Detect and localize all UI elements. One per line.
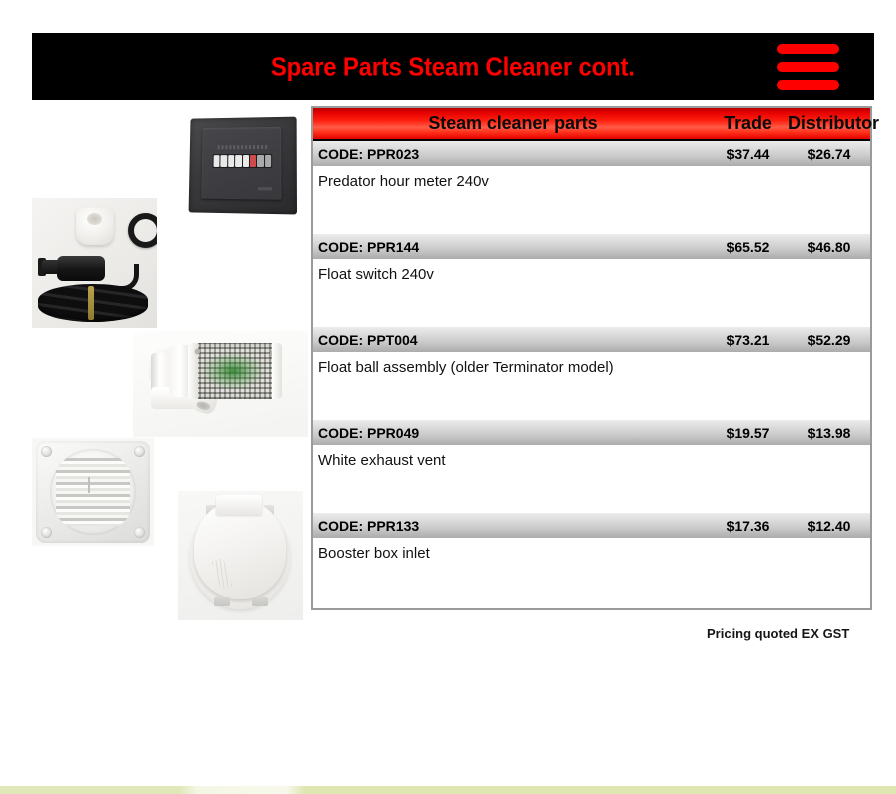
- table-row: CODE: PPR023 $37.44 $26.74: [313, 141, 870, 166]
- o-ring-part: [128, 213, 157, 248]
- column-header-distributor: Distributor: [788, 113, 879, 134]
- page-title: Spare Parts Steam Cleaner cont.: [32, 51, 874, 82]
- distributor-price: $26.74: [788, 146, 870, 162]
- exhaust-vent-photo: [32, 438, 154, 546]
- column-header-trade: Trade: [708, 113, 788, 134]
- hour-meter-sub-label: [258, 187, 272, 190]
- part-description: Predator hour meter 240v: [313, 166, 708, 190]
- counter-digit: [214, 155, 220, 167]
- vent-louvers: [56, 458, 130, 526]
- trade-price: $73.21: [708, 332, 788, 348]
- table-row: CODE: PPR144 $65.52 $46.80: [313, 234, 870, 259]
- page-header: Spare Parts Steam Cleaner cont.: [32, 33, 874, 100]
- vent-center-rib: [88, 477, 90, 493]
- spacer-cell: [708, 352, 788, 359]
- counter-digit: [235, 155, 241, 167]
- trade-price: $37.44: [708, 146, 788, 162]
- table-row: Float switch 240v: [313, 259, 870, 327]
- table-header-row: Steam cleaner parts Trade Distributor: [313, 108, 870, 141]
- distributor-price: $13.98: [788, 425, 870, 441]
- strainer-screw: [195, 349, 200, 354]
- table-row: CODE: PPT004 $73.21 $52.29: [313, 327, 870, 352]
- vent-screw: [41, 527, 52, 538]
- spacer-cell: [788, 259, 870, 266]
- counter-digit: [242, 155, 248, 167]
- page-title-text: Spare Parts Steam Cleaner cont.: [271, 51, 635, 82]
- inlet-notch-left: [214, 597, 230, 606]
- table-row: Float ball assembly (older Terminator mo…: [313, 352, 870, 420]
- distributor-price: $46.80: [788, 239, 870, 255]
- float-switch-photo: [32, 198, 157, 328]
- cable-tie: [88, 286, 94, 320]
- hour-meter-body: [189, 117, 297, 215]
- counter-digit: [250, 155, 256, 167]
- spacer-cell: [708, 445, 788, 452]
- part-description: Float switch 240v: [313, 259, 708, 283]
- trade-price: $65.52: [708, 239, 788, 255]
- counter-digit: [221, 155, 227, 167]
- bottom-accent-strip: [0, 786, 896, 794]
- strainer-screw: [270, 351, 275, 356]
- spacer-cell: [708, 166, 788, 173]
- hour-meter-label-text: [218, 145, 267, 149]
- inlet-notch-right: [252, 597, 268, 606]
- spacer-cell: [708, 538, 788, 545]
- table-row: White exhaust vent: [313, 445, 870, 513]
- inlet-embossed-text: [212, 558, 233, 590]
- table-row: CODE: PPR049 $19.57 $13.98: [313, 420, 870, 445]
- hamburger-bar-3: [777, 80, 839, 90]
- table-row: Booster box inlet: [313, 538, 870, 608]
- hamburger-menu-icon[interactable]: [777, 42, 839, 92]
- hour-meter-face: [201, 127, 281, 200]
- hamburger-bar-2: [777, 62, 839, 72]
- column-header-parts: Steam cleaner parts: [313, 113, 708, 134]
- vent-face-plate: [36, 441, 150, 543]
- hour-meter-photo: [182, 113, 302, 218]
- inlet-cover-lid: [194, 501, 286, 599]
- vent-screw: [41, 446, 52, 457]
- part-code: CODE: PPR023: [313, 146, 708, 162]
- float-ball-photo: [133, 331, 308, 437]
- pricing-note: Pricing quoted EX GST: [707, 626, 849, 641]
- booster-box-inlet-photo: [178, 491, 303, 620]
- parts-price-table: Steam cleaner parts Trade Distributor CO…: [311, 106, 872, 610]
- part-description: Booster box inlet: [313, 538, 708, 562]
- spacer-cell: [788, 445, 870, 452]
- part-code: CODE: PPR144: [313, 239, 708, 255]
- distributor-price: $12.40: [788, 518, 870, 534]
- hamburger-bar-1: [777, 44, 839, 54]
- part-description: Float ball assembly (older Terminator mo…: [313, 352, 708, 376]
- hour-meter-counter-display: [213, 154, 273, 168]
- table-row: Predator hour meter 240v: [313, 166, 870, 234]
- spacer-cell: [788, 538, 870, 545]
- part-code: CODE: PPT004: [313, 332, 708, 348]
- vent-screw: [134, 446, 145, 457]
- white-fitting-part: [76, 208, 114, 245]
- part-code: CODE: PPR133: [313, 518, 708, 534]
- inlet-hinge-tab: [216, 495, 262, 515]
- trade-price: $19.57: [708, 425, 788, 441]
- counter-digit: [228, 155, 234, 167]
- counter-digit: [257, 155, 263, 167]
- perforated-strainer: [189, 343, 281, 399]
- part-code: CODE: PPR049: [313, 425, 708, 441]
- distributor-price: $52.29: [788, 332, 870, 348]
- spacer-cell: [788, 352, 870, 359]
- part-description: White exhaust vent: [313, 445, 708, 469]
- vent-circular-recess: [50, 449, 136, 535]
- float-switch-body: [57, 256, 105, 281]
- spacer-cell: [788, 166, 870, 173]
- counter-digit: [265, 155, 271, 167]
- table-row: CODE: PPR133 $17.36 $12.40: [313, 513, 870, 538]
- vent-screw: [134, 527, 145, 538]
- trade-price: $17.36: [708, 518, 788, 534]
- spacer-cell: [708, 259, 788, 266]
